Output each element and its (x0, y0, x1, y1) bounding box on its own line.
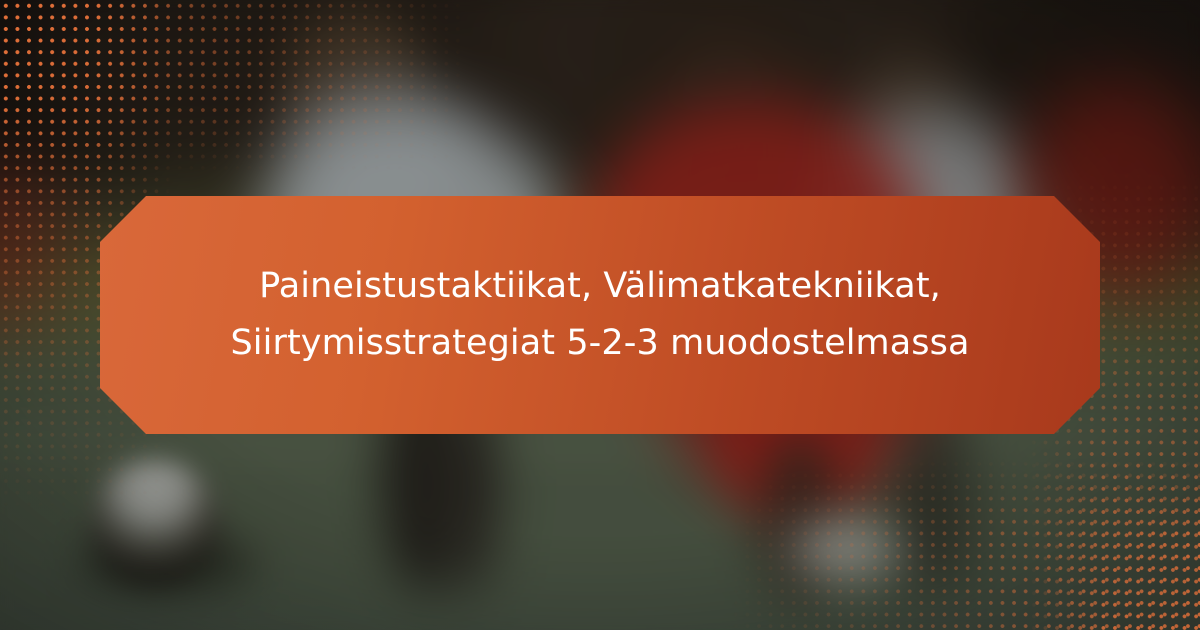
title-banner: Paineistustaktiikat, Välimatkatekniikat,… (100, 196, 1100, 434)
page-title: Paineistustaktiikat, Välimatkatekniikat,… (220, 258, 980, 371)
social-share-card: Paineistustaktiikat, Välimatkatekniikat,… (0, 0, 1200, 630)
